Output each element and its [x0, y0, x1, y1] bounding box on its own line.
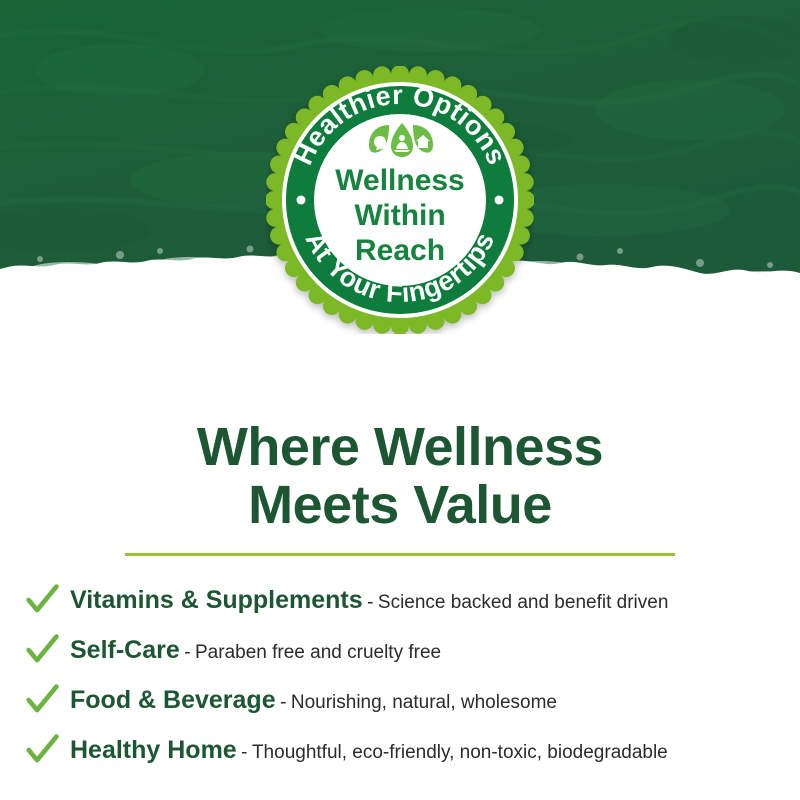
check-mark-icon — [26, 730, 70, 770]
check-mark-icon — [26, 630, 70, 670]
benefit-text: Healthy Home - Thoughtful, eco-friendly,… — [70, 738, 786, 763]
badge-center-line-1: Wellness — [335, 164, 465, 197]
benefit-dash: - — [241, 742, 247, 763]
benefit-title: Vitamins & Supplements — [70, 586, 363, 614]
headline-line-2: Meets Value — [0, 476, 800, 534]
benefit-dash: - — [184, 642, 190, 663]
badge-center-line-3: Reach — [355, 234, 445, 267]
benefit-row: Self-Care - Paraben free and cruelty fre… — [26, 625, 786, 675]
benefit-text: Food & Beverage - Nourishing, natural, w… — [70, 688, 786, 713]
benefit-description: Paraben free and cruelty free — [195, 642, 441, 663]
benefit-row: Vitamins & Supplements - Science backed … — [26, 575, 786, 625]
check-mark-icon — [26, 680, 70, 720]
benefit-row: Food & Beverage - Nourishing, natural, w… — [26, 675, 786, 725]
benefit-description: Science backed and benefit driven — [378, 592, 668, 613]
benefits-list: Vitamins & Supplements - Science backed … — [26, 575, 786, 775]
headline-divider — [125, 553, 675, 556]
benefit-text: Vitamins & Supplements - Science backed … — [70, 588, 786, 613]
check-mark-icon — [26, 580, 70, 620]
benefit-row: Healthy Home - Thoughtful, eco-friendly,… — [26, 725, 786, 775]
headline-line-1: Where Wellness — [0, 418, 800, 476]
page-title: Where Wellness Meets Value — [0, 418, 800, 535]
benefit-text: Self-Care - Paraben free and cruelty fre… — [70, 638, 786, 663]
wellness-badge-seal: Healthier Options At Your Fingertips — [266, 66, 534, 334]
benefit-description: Nourishing, natural, wholesome — [291, 692, 557, 713]
benefit-dash: - — [280, 692, 286, 713]
benefit-description: Thoughtful, eco-friendly, non-toxic, bio… — [252, 742, 668, 763]
promo-page: Healthier Options At Your Fingertips — [0, 0, 800, 800]
benefit-title: Healthy Home — [70, 736, 237, 764]
benefit-title: Food & Beverage — [70, 686, 276, 714]
benefit-title: Self-Care — [70, 636, 180, 664]
badge-separator-dot-left — [297, 196, 306, 205]
badge-separator-dot-right — [495, 196, 504, 205]
benefit-dash: - — [367, 592, 373, 613]
badge-center-line-2: Within — [354, 199, 445, 232]
